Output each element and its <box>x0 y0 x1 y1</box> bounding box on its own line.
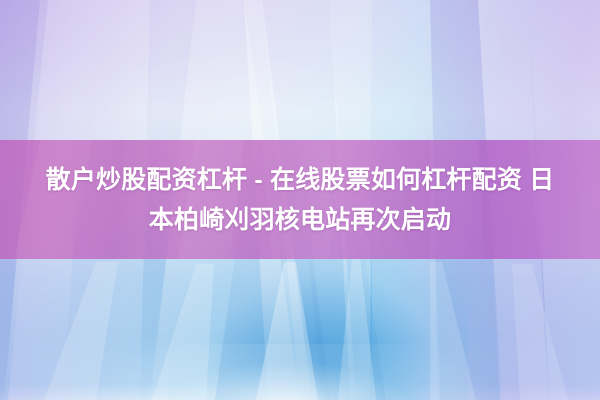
banner-title: 散户炒股配资杠杆 - 在线股票如何杠杆配资 日 本柏崎刈羽核电站再次启动 <box>0 160 600 240</box>
banner-title-line-1: 散户炒股配资杠杆 - 在线股票如何杠杆配资 日 <box>24 160 576 200</box>
background-bottom-glow <box>0 344 600 400</box>
title-band: 散户炒股配资杠杆 - 在线股票如何杠杆配资 日 本柏崎刈羽核电站再次启动 <box>0 140 600 259</box>
banner-image: 散户炒股配资杠杆 - 在线股票如何杠杆配资 日 本柏崎刈羽核电站再次启动 <box>0 0 600 400</box>
banner-title-line-2: 本柏崎刈羽核电站再次启动 <box>24 200 576 240</box>
